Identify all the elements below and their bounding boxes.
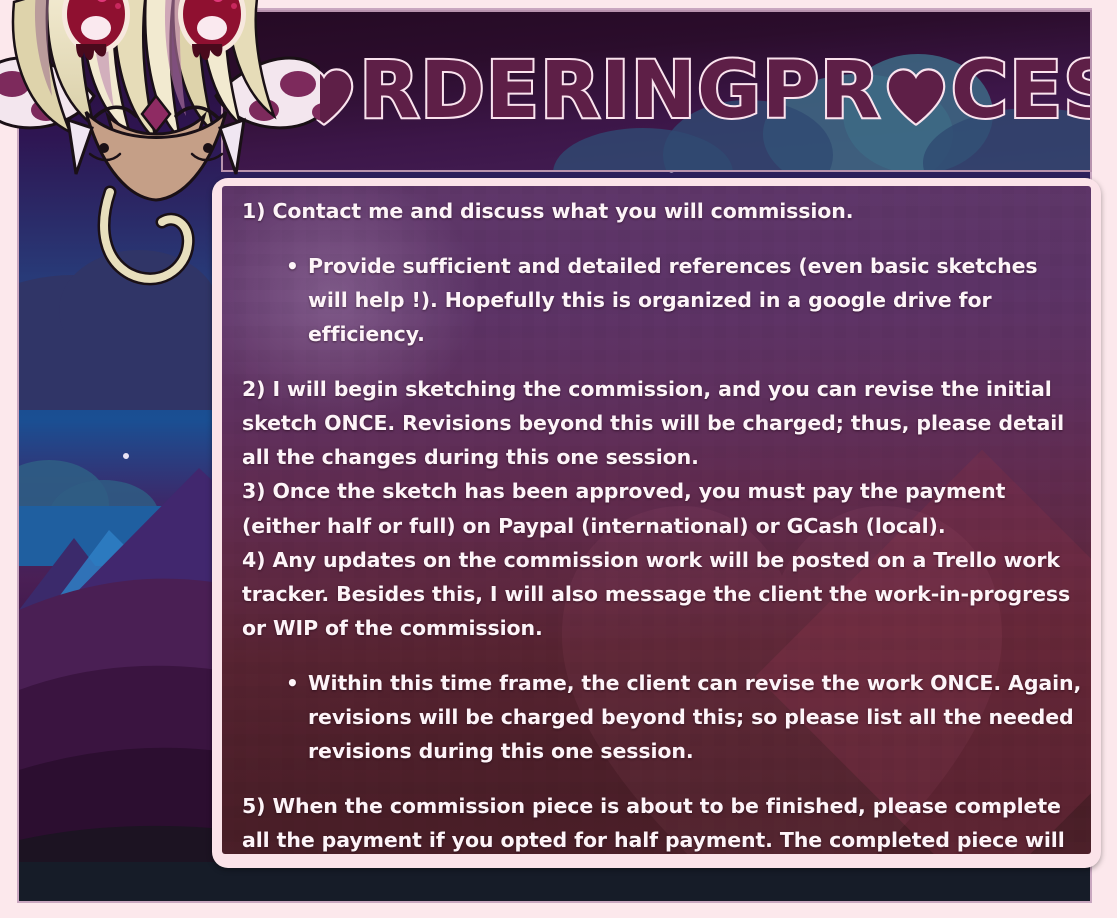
- list-item: 1) Contact me and discuss what you will …: [242, 194, 1082, 228]
- list-item: 5) When the commission piece is about to…: [242, 789, 1082, 854]
- poster-root: RDERING PR CESS 1) Contact me and discus…: [0, 0, 1117, 918]
- content-panel: 1) Contact me and discuss what you will …: [222, 186, 1091, 854]
- list-item: 4) Any updates on the commission work wi…: [242, 543, 1082, 646]
- title-word-ordering: RDERING: [289, 46, 762, 136]
- ordering-steps-list: 1) Contact me and discuss what you will …: [242, 194, 1082, 854]
- header-banner: RDERING PR CESS: [221, 10, 1092, 172]
- title-text-segment: RDERING: [359, 46, 762, 136]
- list-item: 2) I will begin sketching the commission…: [242, 372, 1082, 475]
- title-text-segment: CESS: [951, 46, 1092, 136]
- heart-letter-o-icon: [885, 68, 947, 126]
- heart-letter-o-icon: [293, 68, 355, 126]
- content-panel-frame: 1) Contact me and discuss what you will …: [212, 178, 1101, 868]
- list-item: 3) Once the sketch has been approved, yo…: [242, 474, 1082, 542]
- list-item: Within this time frame, the client can r…: [286, 666, 1082, 769]
- list-item: Provide sufficient and detailed referenc…: [286, 249, 1082, 352]
- title-word-process: PR CESS: [762, 46, 1092, 136]
- page-title: RDERING PR CESS: [223, 12, 1090, 170]
- title-text-segment: PR: [762, 46, 881, 136]
